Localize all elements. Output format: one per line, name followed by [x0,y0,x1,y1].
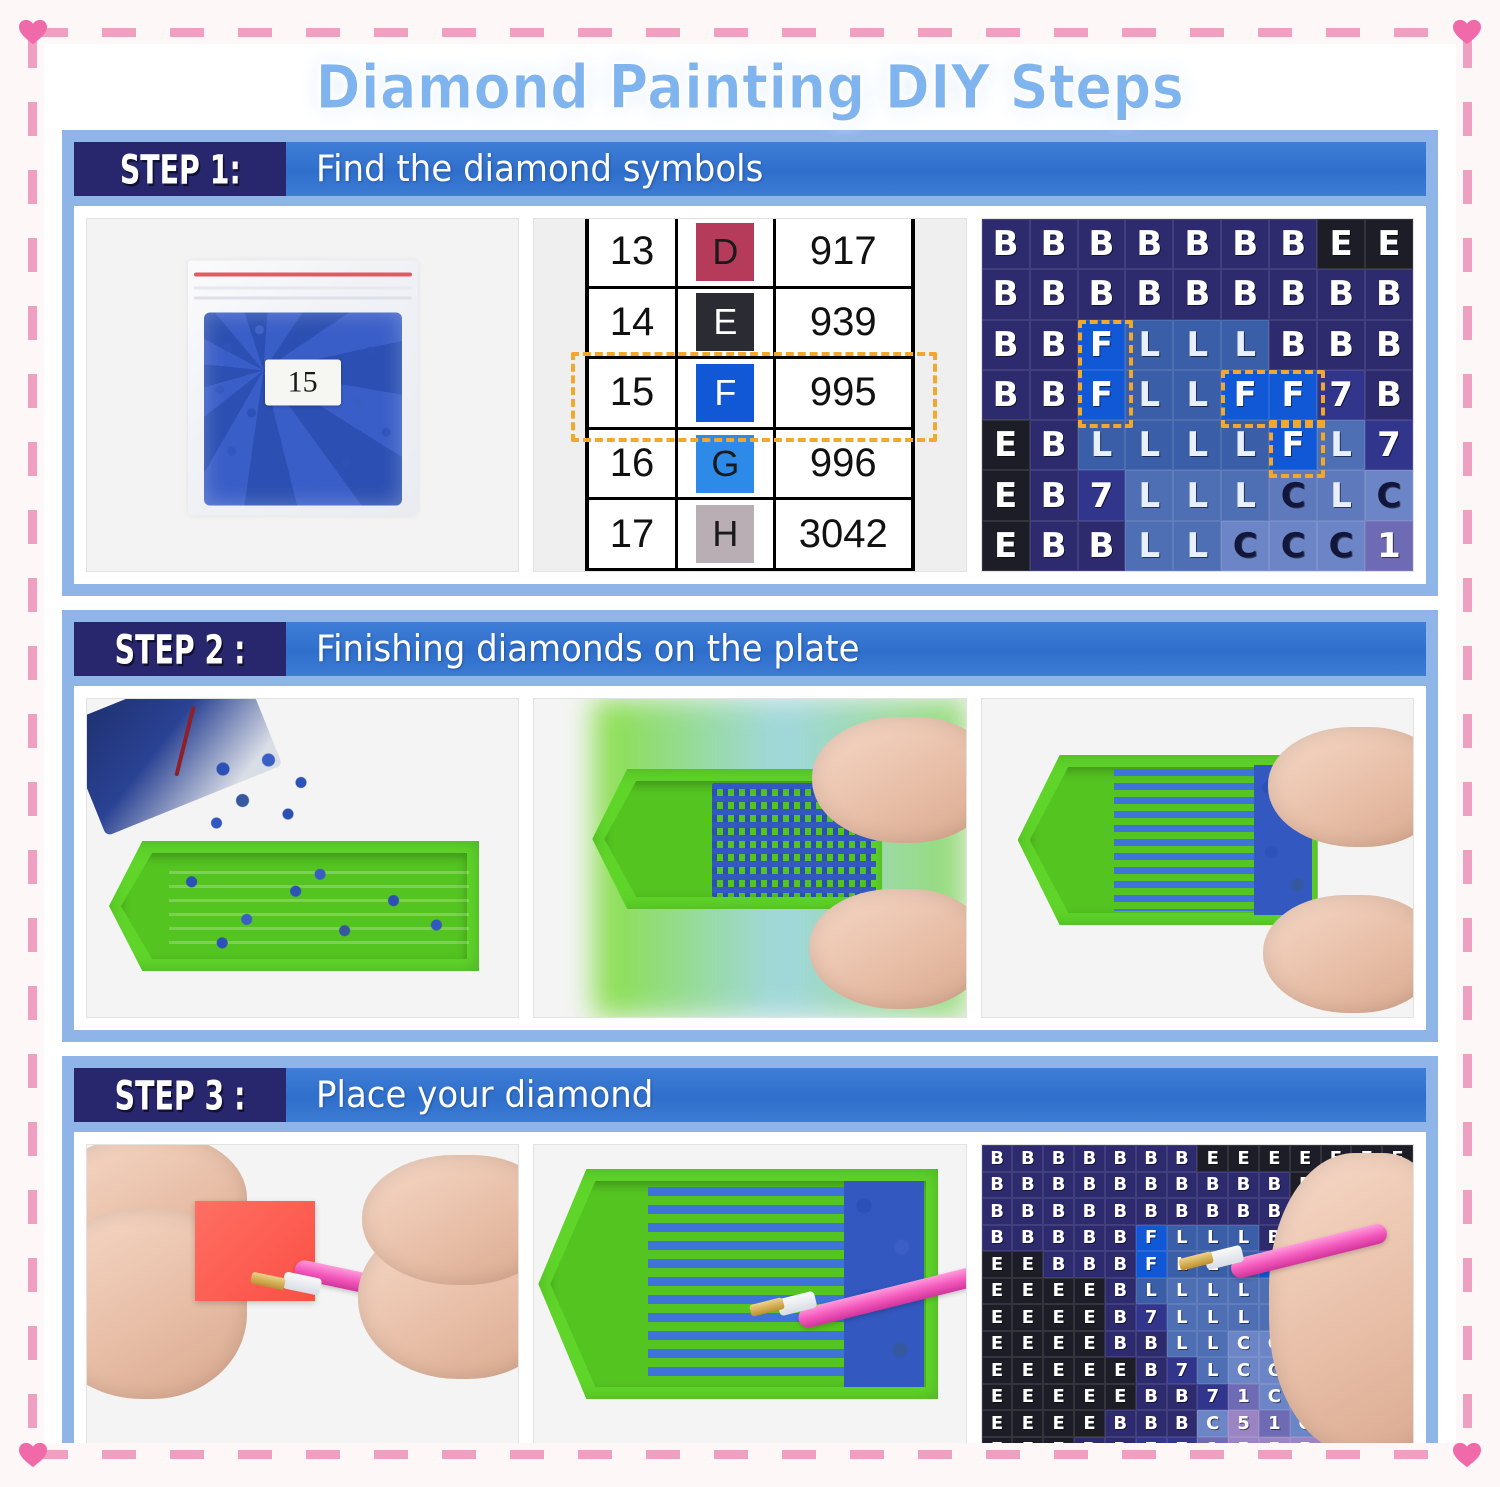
frame-dash-bottom [34,1450,1466,1459]
legend-row: 17H3042 [587,499,913,570]
grid-cell: E [1317,219,1365,269]
grid-cell: B [1197,1198,1228,1225]
grid-cell: B [1074,1225,1105,1252]
grid-cell: E [1012,1437,1043,1444]
grid-cell: C [1269,521,1317,571]
grid-cell: L [1197,1357,1228,1384]
page-title: Diamond Painting DIY Steps [44,44,1456,130]
step-1-tag-label: STEP 1: [120,145,241,193]
legend-number: 16 [587,428,677,499]
grid-cell: B [1030,320,1078,370]
grid-cell: L [1173,470,1221,520]
grid-cell: B [1105,1331,1136,1358]
grid-cell: L [1197,1225,1228,1252]
step1-symbol-grid: BBBBBBBEEBBBBBBBBBBBFLLLBBBBBFLLFF7BEBLL… [982,219,1413,571]
step-block-3: STEP 3 : Place your diamond [62,1056,1438,1443]
grid-cell: L [1221,420,1269,470]
grid-cell: E [982,420,1030,470]
grid-cell: L [1125,370,1173,420]
grid-cell: E [982,1410,1013,1437]
legend-symbol-cell: G [677,428,775,499]
grid-cell: B [1365,320,1413,370]
legend-number: 15 [587,358,677,429]
grid-cell: B [982,269,1030,319]
shaking-tray-photo [533,698,966,1018]
grid-cell: B [1105,1225,1136,1252]
grid-cell: B [1136,1198,1167,1225]
grid-cell: L [1317,470,1365,520]
grid-cell: B [1167,1198,1198,1225]
grid-cell: B [1043,1172,1074,1199]
grid-cell: C [1228,1331,1259,1358]
grid-cell: B [1167,1410,1198,1437]
grid-cell: B [982,219,1030,269]
grid-cell: L [1125,521,1173,571]
grid-cell: E [1012,1251,1043,1278]
grid-cell: E [982,470,1030,520]
grid-cell: B [1030,219,1078,269]
grid-cell: B [1078,521,1126,571]
grid-cell: E [982,1357,1013,1384]
grid-cell: 7 [1136,1304,1167,1331]
step-3-body: BBBBBBBEEEEEEEBBBBBBBBBBEEBEBBBBBBBBBBBB… [74,1132,1426,1443]
step-2-body [74,686,1426,1030]
legend-symbol-swatch: F [696,364,754,422]
grid-cell: C [1228,1357,1259,1384]
grid-cell: 5 [1228,1410,1259,1437]
zip-fold-line-1 [194,286,412,289]
grid-cell: E [1012,1410,1043,1437]
zip-fold-line-2 [194,296,412,299]
heart-icon [18,18,48,46]
grid-cell: E [1012,1304,1043,1331]
grid-cell: B [1136,1357,1167,1384]
grid-cell: B [1105,1172,1136,1199]
grid-cell: B [1105,1304,1136,1331]
placing-on-canvas-photo: BBBBBBBEEEEEEEBBBBBBBBBBEEBEBBBBBBBBBBBB… [981,1144,1414,1443]
grid-cell: 7 [1136,1437,1167,1444]
grid-cell: E [1197,1145,1228,1172]
legend-dmc-code: 995 [774,358,913,429]
legend-table-body: 13D91714E93915F99516G99617H3042 [587,218,913,570]
legend-symbol-swatch: D [696,223,754,281]
grid-cell: E [1074,1331,1105,1358]
grid-cell: B [1012,1225,1043,1252]
scattered-diamonds [161,863,467,957]
grid-cell: B [1012,1145,1043,1172]
bag-number-label: 15 [265,360,341,406]
grid-cell: B [1136,1331,1167,1358]
legend-row: 15F995 [587,358,913,429]
grid-cell: 1 [1259,1410,1290,1437]
grid-cell: B [1125,219,1173,269]
symbol-chart-grid: BBBBBBBEEBBBBBBBBBBBFLLLBBBBBFLLFF7BEBLL… [981,218,1414,572]
zip-seal-line [194,272,412,276]
legend-number: 13 [587,218,677,287]
zip-bag: 15 [188,260,418,515]
grid-cell: B [1221,219,1269,269]
grid-cell: B [982,1225,1013,1252]
legend-symbol-cell: H [677,499,775,570]
grid-cell: F [1136,1251,1167,1278]
frame-dash-top [34,28,1466,37]
legend-dmc-code: 917 [774,218,913,287]
grid-cell: C [1365,470,1413,520]
grid-cell: B [982,370,1030,420]
grid-cell: L [1197,1331,1228,1358]
grid-cell: 7 [1317,370,1365,420]
grid-cell: F [1221,370,1269,420]
grid-cell: B [1173,219,1221,269]
hand [1269,1153,1414,1443]
grid-cell: B [1365,370,1413,420]
step-2-tag-label: STEP 2 : [115,625,246,673]
grid-cell: E [1228,1145,1259,1172]
grid-cell: B [1269,269,1317,319]
grid-cell: B [1043,1198,1074,1225]
grid-cell: C [1197,1410,1228,1437]
legend-number: 17 [587,499,677,570]
grid-cell: B [1105,1437,1136,1444]
heart-icon [1452,18,1482,46]
grid-cell: B [1030,470,1078,520]
legend-symbol-swatch: E [696,293,754,351]
wax-pen-photo [86,1144,519,1443]
legend-dmc-code: 939 [774,287,913,358]
legend-row: 14E939 [587,287,913,358]
grid-cell: E [1259,1145,1290,1172]
grid-cell: B [1221,269,1269,319]
grid-cell: C [1221,521,1269,571]
grid-cell: E [982,1384,1013,1411]
grid-cell: L [1221,470,1269,520]
page-title-text: Diamond Painting DIY Steps [316,52,1185,123]
grid-cell: L [1317,420,1365,470]
grid-cell: E [1365,219,1413,269]
grid-cell: B [982,1198,1013,1225]
grid-cell: 1 [1197,1437,1228,1444]
grid-cell: B [1173,269,1221,319]
grid-cell: E [1012,1384,1043,1411]
grid-cell: L [1136,1278,1167,1305]
grid-cell: L [1197,1278,1228,1305]
grid-cell: C [1317,521,1365,571]
grid-cell: B [1074,1198,1105,1225]
grid-cell: C [1269,470,1317,520]
blue-diamond-beads [204,312,402,505]
step-1-title: Find the diamond symbols [286,140,1426,198]
grid-cell: B [1136,1410,1167,1437]
grid-cell: B [1012,1198,1043,1225]
grid-cell: 1 [1365,521,1413,571]
grid-cell: E [1074,1357,1105,1384]
grid-cell: E [982,1437,1013,1444]
heart-icon [18,1441,48,1469]
grid-cell: 5 [1259,1437,1290,1444]
grid-cell: B [1269,320,1317,370]
grid-cell: 7 [1167,1437,1198,1444]
grid-cell: L [1197,1304,1228,1331]
grid-cell: B [1074,1437,1105,1444]
step-3-tag-label: STEP 3 : [115,1071,246,1119]
grid-cell: E [1043,1384,1074,1411]
step-block-2: STEP 2 : Finishing diamonds on the plate [62,610,1438,1042]
grid-cell: E [1043,1304,1074,1331]
grid-cell: B [1317,320,1365,370]
step-1-body: 15 13D91714E93915F99516G99617H3042 [74,206,1426,584]
step-2-header: STEP 2 : Finishing diamonds on the plate [74,622,1426,676]
legend-dmc-code: 996 [774,428,913,499]
step-3-header: STEP 3 : Place your diamond [74,1068,1426,1122]
dmc-legend-table: 13D91714E93915F99516G99617H3042 [533,218,966,572]
grid-cell: F [1136,1225,1167,1252]
grid-cell: B [1167,1145,1198,1172]
grid-cell: B [1078,219,1126,269]
step-1-header: STEP 1: Find the diamond symbols [74,142,1426,196]
grid-cell: B [982,1172,1013,1199]
grid-cell: B [1078,269,1126,319]
grid-cell: 7 [1365,420,1413,470]
grid-cell: 7 [1167,1357,1198,1384]
picking-diamond-photo [533,1144,966,1443]
legend-symbol-cell: D [677,218,775,287]
grid-cell: B [982,320,1030,370]
grid-cell: L [1167,1278,1198,1305]
grid-cell: E [1043,1437,1074,1444]
grid-cell: B [982,1145,1013,1172]
grid-cell: E [1105,1357,1136,1384]
grid-cell: E [1074,1278,1105,1305]
grid-cell: B [1012,1172,1043,1199]
grid-cell: E [1074,1384,1105,1411]
grid-cell: 7 [1197,1384,1228,1411]
grid-cell: 5 [1228,1437,1259,1444]
grid-cell: B [1043,1251,1074,1278]
grid-cell: E [1012,1278,1043,1305]
legend-symbol-swatch: H [696,505,754,563]
grid-cell: L [1173,370,1221,420]
grid-cell: E [1105,1384,1136,1411]
grid-cell: L [1167,1304,1198,1331]
green-tray [109,841,479,971]
grid-cell: B [1136,1172,1167,1199]
grid-cell: E [1074,1304,1105,1331]
legend-row: 16G996 [587,428,913,499]
aligned-diamonds-photo [981,698,1414,1018]
grid-cell: B [1030,420,1078,470]
grid-cell: B [1043,1225,1074,1252]
grid-cell: B [1074,1172,1105,1199]
grid-cell: L [1173,521,1221,571]
step-1-tag: STEP 1: [74,142,286,196]
grid-cell: F [1269,370,1317,420]
grid-cell: B [1269,219,1317,269]
grid-cell: E [1043,1331,1074,1358]
pouring-diamonds-photo [86,698,519,1018]
grid-cell: L [1167,1331,1198,1358]
grid-cell: F [1269,420,1317,470]
grid-cell: B [1167,1384,1198,1411]
green-tray [538,1169,938,1399]
grid-cell: E [982,1304,1013,1331]
legend-number: 14 [587,287,677,358]
step-2-tag: STEP 2 : [74,622,286,676]
aligned-diamond-rows [648,1187,848,1381]
grid-cell: B [1259,1172,1290,1199]
grid-cell: B [1136,1145,1167,1172]
grid-cell: B [1167,1172,1198,1199]
grid-cell: 1 [1228,1384,1259,1411]
legend-dmc-code: 3042 [774,499,913,570]
grid-cell: L [1078,420,1126,470]
grid-cell: L [1173,420,1221,470]
grid-cell: E [1012,1357,1043,1384]
legend-symbol-cell: E [677,287,775,358]
grid-cell: B [1043,1145,1074,1172]
step-3-title: Place your diamond [286,1066,1426,1124]
grid-cell: L [1221,320,1269,370]
poster-root: Diamond Painting DIY Steps STEP 1: Find … [0,0,1500,1487]
grid-cell: B [1228,1198,1259,1225]
grid-cell: L [1167,1225,1198,1252]
grid-cell: B [1105,1198,1136,1225]
grid-cell: B [1030,370,1078,420]
grid-cell: B [1074,1251,1105,1278]
grid-cell: B [1030,269,1078,319]
grid-cell: B [1317,269,1365,319]
grid-cell: B [1105,1251,1136,1278]
grid-cell: B [1365,269,1413,319]
grid-cell: L [1125,320,1173,370]
grid-cell: B [1105,1145,1136,1172]
diamond-bag-photo: 15 [86,218,519,572]
legend-row: 13D917 [587,218,913,287]
grid-cell: L [1125,470,1173,520]
poster-canvas: Diamond Painting DIY Steps STEP 1: Find … [44,44,1456,1443]
grid-cell: E [1012,1331,1043,1358]
grid-cell: E [1043,1410,1074,1437]
grid-cell: B [1105,1410,1136,1437]
grid-cell: B [1228,1172,1259,1199]
legend-table: 13D91714E93915F99516G99617H3042 [585,218,915,571]
grid-cell: 7 [1078,470,1126,520]
legend-symbol-swatch: G [696,435,754,493]
grid-cell: B [1197,1172,1228,1199]
falling-diamonds [197,751,327,841]
step-block-1: STEP 1: Find the diamond symbols 15 [62,130,1438,596]
grid-cell: B [1125,269,1173,319]
frame-dash-right [1463,34,1472,1453]
heart-icon [1452,1441,1482,1469]
grid-cell: L [1125,420,1173,470]
legend-symbol-cell: F [677,358,775,429]
grid-cell: B [1105,1278,1136,1305]
step-2-title: Finishing diamonds on the plate [286,620,1426,678]
grid-cell: F [1078,370,1126,420]
grid-cell: B [1030,521,1078,571]
grid-cell: E [982,1331,1013,1358]
grid-cell: E [982,521,1030,571]
grid-cell: E [1043,1278,1074,1305]
frame-dash-left [28,34,37,1453]
grid-cell: L [1228,1304,1259,1331]
grid-cell: L [1228,1278,1259,1305]
grid-cell: L [1173,320,1221,370]
grid-cell: E [1074,1410,1105,1437]
grid-cell: E [982,1278,1013,1305]
grid-cell: F [1078,320,1126,370]
grid-cell: B [1074,1145,1105,1172]
grid-cell: E [1043,1357,1074,1384]
step-3-tag: STEP 3 : [74,1068,286,1122]
grid-cell: B [1136,1384,1167,1411]
grid-cell: E [982,1251,1013,1278]
